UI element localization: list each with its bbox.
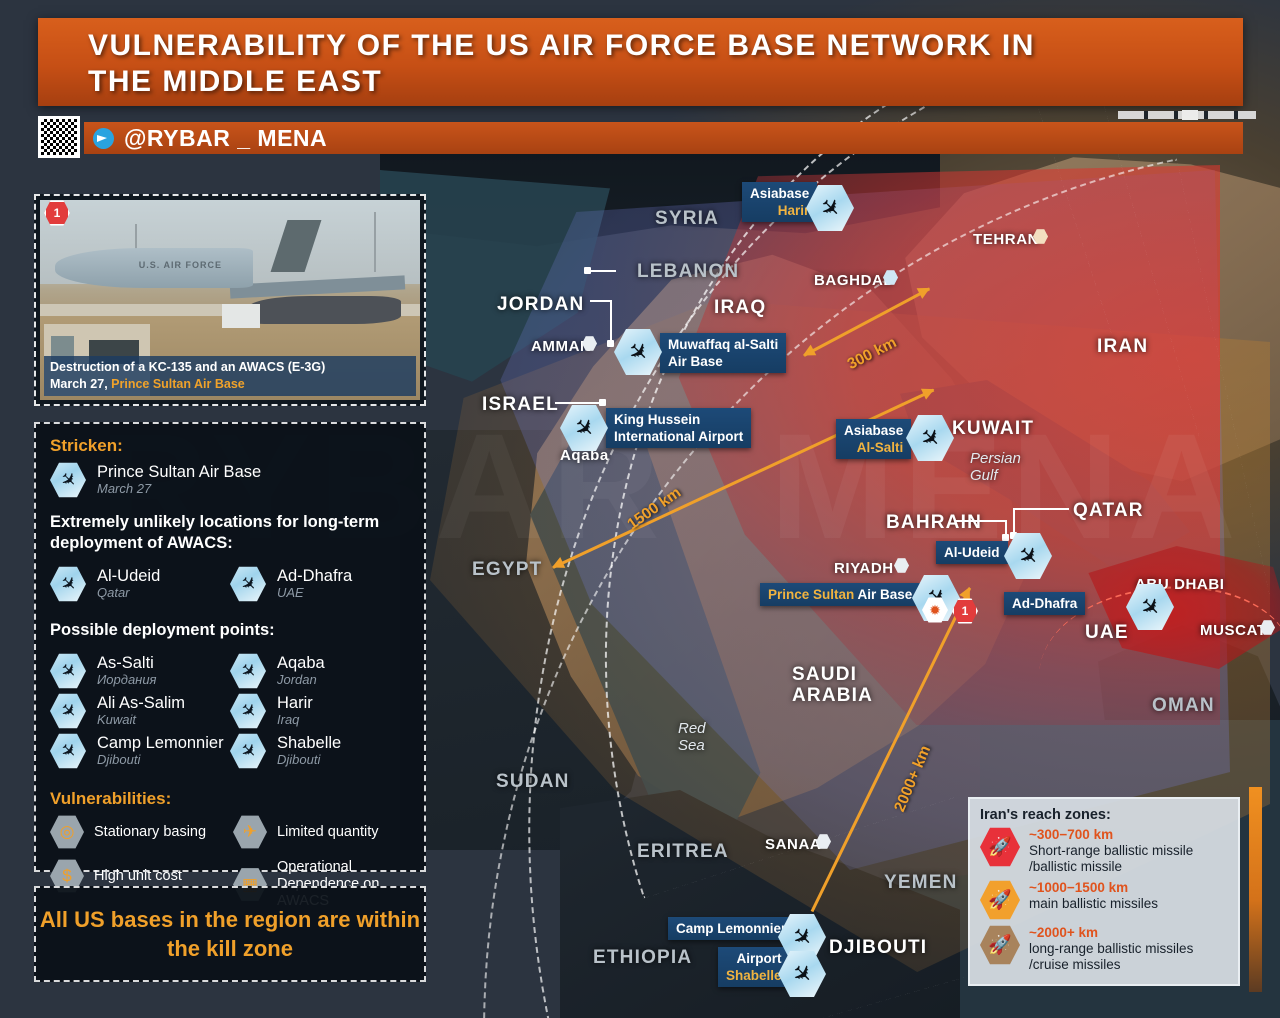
- reach-zone-item: 🚀~300−700 kmShort-range ballistic missil…: [980, 827, 1228, 875]
- telegram-icon: [93, 128, 114, 149]
- country-label: LEBANON: [637, 261, 739, 282]
- leader-bahrain-dot: [1002, 534, 1009, 541]
- country-label: ISRAEL: [482, 394, 559, 415]
- leader-jordan-dot: [607, 340, 614, 347]
- legend-base-name: Shabelle: [277, 734, 341, 752]
- scale-ruler: [1118, 111, 1256, 119]
- country-label: ETHIOPIA: [593, 947, 692, 968]
- city-label: TEHRAN: [973, 231, 1039, 248]
- aircraft-icon: ✈: [50, 462, 86, 498]
- aircraft-icon: ✈: [233, 815, 267, 849]
- airbase-label[interactable]: Muwaffaq al-SaltiAir Base: [660, 333, 786, 373]
- aircraft-icon: ✈: [50, 566, 86, 602]
- reach-zone-desc: long-range ballistic missiles /cruise mi…: [1029, 941, 1193, 973]
- leader-lebanon: [588, 270, 616, 272]
- country-label: SUDAN: [496, 771, 570, 792]
- country-label: ERITREA: [637, 841, 729, 862]
- missile-icon: 🚀: [980, 880, 1020, 920]
- airbase-label[interactable]: Prince Sultan Air Base: [760, 583, 920, 606]
- legend-base-name: Al-Udeid: [97, 567, 160, 585]
- legend-base-item[interactable]: ✈Ad-DhafraUAE: [230, 566, 410, 602]
- country-label: IRAN: [1097, 336, 1148, 357]
- aircraft-icon: ✈: [230, 693, 266, 729]
- killzone-callout: All US bases in the region are within th…: [34, 886, 426, 982]
- aircraft-marking: U.S. AIR FORCE: [139, 260, 222, 270]
- legend-base-name: Prince Sultan Air Base: [97, 463, 261, 481]
- leader-bahrain: [955, 520, 1007, 522]
- legend-base-sub: Djibouti: [277, 753, 341, 768]
- reach-zone-range: ~300−700 km: [1029, 827, 1193, 843]
- airbase-label[interactable]: Ad-Dhafra: [1004, 592, 1085, 615]
- country-label: KUWAIT: [952, 418, 1034, 439]
- legend-base-name: Camp Lemonnier: [97, 734, 224, 752]
- legend-base-item[interactable]: ✈As-SaltiИордания: [50, 653, 230, 689]
- reach-zone-desc: main ballistic missiles: [1029, 896, 1158, 912]
- leader-jordan: [590, 300, 612, 302]
- photo-inset: U.S. AIR FORCE Destruction of a KC-135 a…: [34, 194, 426, 406]
- city-label: BAGHDAD: [814, 272, 895, 289]
- legend-base-name: As-Salti: [97, 654, 157, 672]
- country-label: JORDAN: [497, 294, 584, 315]
- photo-caption-line1: Destruction of a KC-135 and an AWACS (E-…: [50, 359, 410, 376]
- airbase-label[interactable]: AsiabaseHarir: [742, 182, 817, 222]
- legend-base-item[interactable]: ✈ShabelleDjibouti: [230, 733, 410, 769]
- legend-base-sub: Qatar: [97, 586, 160, 601]
- photo-caption-date: March 27,: [50, 377, 111, 391]
- country-label: DJIBOUTI: [829, 937, 927, 958]
- country-label: UAE: [1085, 622, 1129, 643]
- country-label: OMAN: [1152, 695, 1215, 716]
- missile-icon: 🚀: [980, 827, 1020, 867]
- legend-base-name: Ali As-Salim: [97, 694, 185, 712]
- reach-legend-title: Iran's reach zones:: [980, 807, 1228, 823]
- legend-base-sub: Иордания: [97, 673, 157, 688]
- vulnerability-item: ◎Stationary basing: [50, 815, 227, 849]
- aircraft-icon: ✈: [50, 653, 86, 689]
- reach-zone-desc: Short-range ballistic missile /ballistic…: [1029, 843, 1193, 875]
- legend-base-sub: Kuwait: [97, 713, 185, 728]
- legend-base-sub: Jordan: [277, 673, 325, 688]
- vulnerability-label: High unit cost: [94, 868, 182, 885]
- airbase-label[interactable]: Al-Udeid: [936, 541, 1008, 564]
- legend-base-item[interactable]: ✈Al-UdeidQatar: [50, 566, 230, 602]
- photo-caption: Destruction of a KC-135 and an AWACS (E-…: [44, 356, 416, 396]
- legend-base-item[interactable]: ✈Prince Sultan Air BaseMarch 27: [50, 462, 410, 498]
- vulnerability-label: Limited quantity: [277, 824, 379, 841]
- legend-base-item[interactable]: ✈Camp LemonnierDjibouti: [50, 733, 230, 769]
- city-label: SANAA: [765, 836, 821, 853]
- reach-zone-range: ~1000−1500 km: [1029, 880, 1158, 896]
- leader-israel-dot: [599, 399, 606, 406]
- stricken-list: ✈Prince Sultan Air BaseMarch 27: [50, 462, 410, 498]
- leader-lebanon-dot: [584, 267, 591, 274]
- leader-qatar: [1013, 508, 1069, 510]
- sea-label: Red Sea: [678, 720, 706, 754]
- target-icon: ◎: [50, 815, 84, 849]
- aircraft-icon: ✈: [230, 566, 266, 602]
- country-label: SYRIA: [655, 208, 719, 229]
- legend-base-item[interactable]: ✈Ali As-SalimKuwait: [50, 693, 230, 729]
- city-label: RIYADH: [834, 560, 894, 577]
- legend-base-item[interactable]: ✈HarirIraq: [230, 693, 410, 729]
- unlikely-heading: Extremely unlikely locations for long-te…: [50, 512, 410, 554]
- aircraft-icon: ✈: [230, 653, 266, 689]
- reach-zone-range: ~2000+ km: [1029, 925, 1193, 941]
- telegram-handle[interactable]: @RYBAR _ MENA: [124, 125, 327, 152]
- reach-zone-item: 🚀~1000−1500 kmmain ballistic missiles: [980, 880, 1228, 920]
- legend-base-sub: UAE: [277, 586, 352, 601]
- page-title: Vulnerability of the US Air Force Base N…: [88, 28, 1088, 100]
- photo-image: U.S. AIR FORCE Destruction of a KC-135 a…: [40, 200, 420, 400]
- leader-jordan-v: [610, 300, 612, 344]
- airbase-label[interactable]: AirportShabelle: [718, 947, 790, 987]
- aircraft-icon: ✈: [50, 693, 86, 729]
- leader-israel: [555, 402, 603, 404]
- country-label: QATAR: [1073, 500, 1144, 521]
- reach-zones-legend: Iran's reach zones: 🚀~300−700 kmShort-ra…: [968, 797, 1240, 986]
- sea-label: Persian Gulf: [970, 450, 1021, 484]
- legend-base-item[interactable]: ✈AqabaJordan: [230, 653, 410, 689]
- country-label: BAHRAIN: [886, 512, 982, 533]
- decorative-side-bar: [1249, 787, 1262, 992]
- aircraft-icon: ✈: [50, 733, 86, 769]
- legend-panel: Stricken: ✈Prince Sultan Air BaseMarch 2…: [34, 422, 426, 872]
- reach-legend-list: 🚀~300−700 kmShort-range ballistic missil…: [980, 827, 1228, 973]
- aircraft-icon: ✈: [230, 733, 266, 769]
- vulnerability-item: ✈Limited quantity: [233, 815, 410, 849]
- country-label: YEMEN: [884, 872, 958, 893]
- possible-list: ✈As-SaltiИордания✈Ali As-SalimKuwait✈Cam…: [50, 649, 410, 773]
- unlikely-list: ✈Al-UdeidQatar✈Ad-DhafraUAE: [50, 562, 410, 606]
- legend-base-sub: Iraq: [277, 713, 313, 728]
- qr-code-icon: [38, 116, 80, 158]
- airbase-label[interactable]: AsiabaseAl-Salti: [836, 419, 911, 459]
- airbase-label[interactable]: Camp Lemonnier: [668, 917, 794, 940]
- country-label: IRAQ: [714, 297, 766, 318]
- reach-zone-item: 🚀~2000+ kmlong-range ballistic missiles …: [980, 925, 1228, 973]
- stricken-heading: Stricken:: [50, 436, 410, 456]
- city-label: MUSCAT: [1200, 622, 1267, 639]
- missile-icon: 🚀: [980, 925, 1020, 965]
- airbase-label[interactable]: King HusseinInternational Airport: [606, 408, 751, 448]
- infographic-root: RYBAR MENA SYRIALEBANONJORDANIRAQIRANISR…: [0, 0, 1280, 1018]
- legend-base-sub: Djibouti: [97, 753, 224, 768]
- country-label: SAUDI ARABIA: [792, 664, 873, 706]
- city-label: AMMAN: [531, 338, 592, 355]
- killzone-text: All US bases in the region are within th…: [36, 905, 424, 963]
- legend-base-name: Ad-Dhafra: [277, 567, 352, 585]
- vulnerability-label: Stationary basing: [94, 824, 206, 841]
- country-label: EGYPT: [472, 559, 542, 580]
- photo-caption-base: Prince Sultan Air Base: [111, 377, 245, 391]
- vulnerabilities-heading: Vulnerabilities:: [50, 789, 410, 809]
- legend-base-name: Harir: [277, 694, 313, 712]
- legend-base-name: Aqaba: [277, 654, 325, 672]
- legend-base-sub: March 27: [97, 482, 261, 497]
- possible-heading: Possible deployment points:: [50, 620, 410, 641]
